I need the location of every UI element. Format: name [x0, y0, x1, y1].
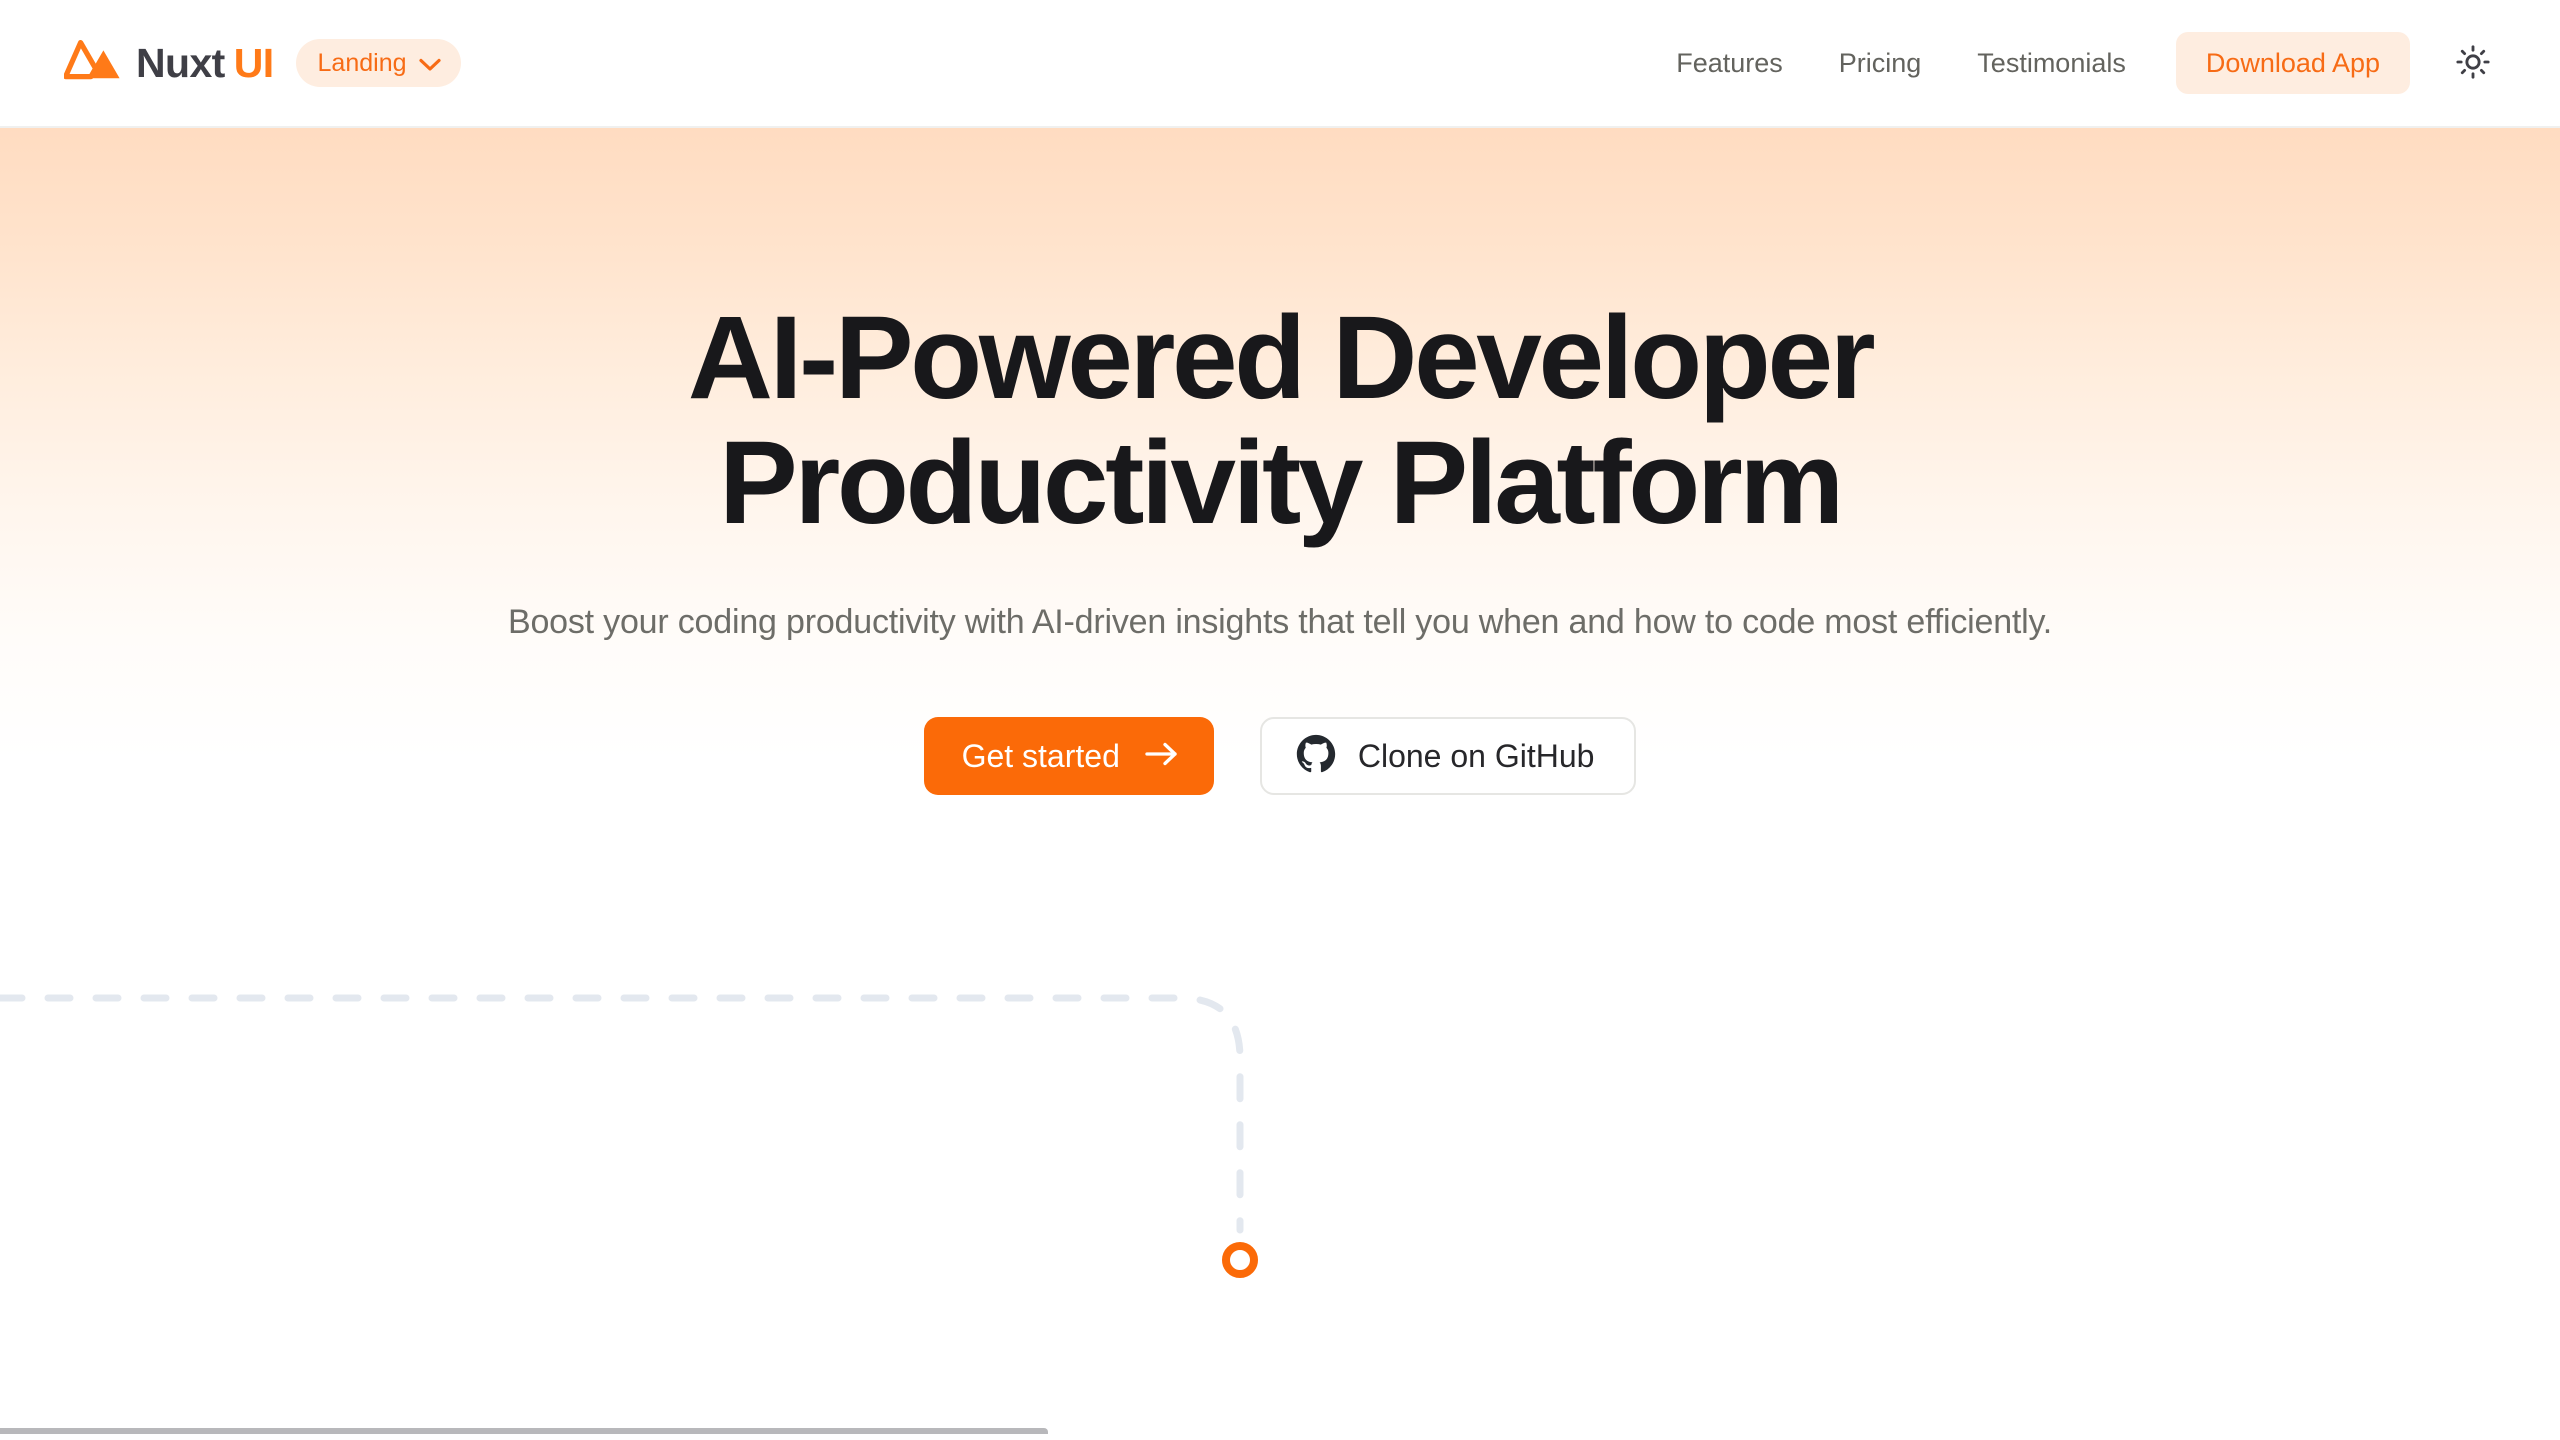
- theme-toggle-button[interactable]: [2442, 32, 2504, 94]
- brand-logo-link[interactable]: NuxtUI: [64, 40, 274, 87]
- clone-on-github-button[interactable]: Clone on GitHub: [1260, 717, 1637, 795]
- nuxt-mountain-icon: [64, 40, 122, 87]
- page-title: AI-Powered Developer Productivity Platfo…: [460, 296, 2100, 546]
- wordmark-ui: UI: [234, 43, 274, 84]
- nav-link-pricing[interactable]: Pricing: [1811, 50, 1950, 77]
- arrow-right-icon: [1144, 739, 1180, 774]
- hero-title-line-1: AI-Powered Developer: [688, 292, 1872, 424]
- brand-area: NuxtUI Landing: [64, 0, 461, 126]
- primary-navigation: Features Pricing Testimonials Download A…: [1648, 32, 2504, 94]
- download-app-button[interactable]: Download App: [2176, 32, 2410, 94]
- site-header: NuxtUI Landing Features Pricing Testimon…: [0, 0, 2560, 128]
- get-started-label: Get started: [962, 740, 1120, 772]
- sun-icon: [2455, 44, 2491, 83]
- bottom-panel-edge: [0, 1428, 1048, 1434]
- dashed-connector-path: [0, 930, 2560, 1330]
- chevron-down-icon: [419, 52, 441, 77]
- get-started-button[interactable]: Get started: [924, 717, 1214, 795]
- landing-dropdown-button[interactable]: Landing: [296, 39, 461, 87]
- landing-dropdown-label: Landing: [318, 51, 407, 76]
- brand-wordmark: NuxtUI: [136, 43, 274, 84]
- hero-content: AI-Powered Developer Productivity Platfo…: [0, 128, 2560, 795]
- hero-title-line-2: Productivity Platform: [719, 417, 1841, 549]
- clone-on-github-label: Clone on GitHub: [1358, 740, 1595, 772]
- hero-section: AI-Powered Developer Productivity Platfo…: [0, 128, 2560, 938]
- nav-link-features[interactable]: Features: [1648, 50, 1811, 77]
- hero-subtitle: Boost your coding productivity with AI-d…: [230, 598, 2330, 647]
- landing-page: NuxtUI Landing Features Pricing Testimon…: [0, 0, 2560, 1440]
- github-icon: [1296, 734, 1336, 779]
- wordmark-nuxt: Nuxt: [136, 43, 225, 84]
- hero-cta-group: Get started Clone on GitHub: [924, 717, 1637, 795]
- nav-link-testimonials[interactable]: Testimonials: [1949, 50, 2154, 77]
- orange-node-marker: [1226, 1246, 1254, 1274]
